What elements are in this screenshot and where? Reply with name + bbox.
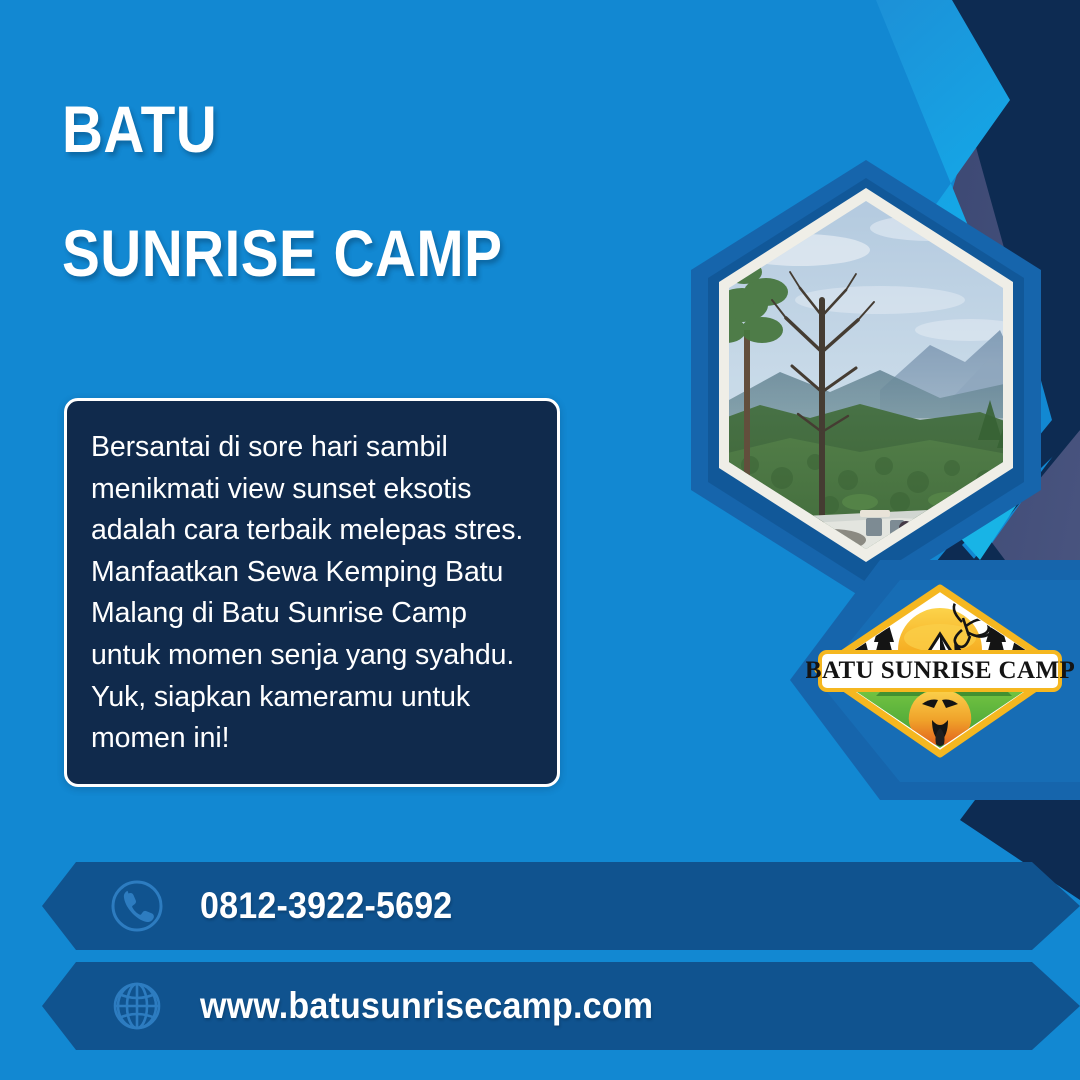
headline-group: BATU SUNRISE CAMP bbox=[62, 96, 682, 286]
contact-bar-website[interactable]: www.batusunrisecamp.com bbox=[42, 962, 1080, 1050]
page-title-line-2: SUNRISE CAMP bbox=[62, 220, 595, 286]
phone-icon bbox=[110, 879, 164, 933]
globe-icon bbox=[110, 979, 164, 1033]
description-box: Bersantai di sore hari sambil menikmati … bbox=[64, 398, 560, 787]
phone-number-text: 0812-3922-5692 bbox=[200, 885, 452, 927]
logo-banner: BATU SUNRISE CAMP bbox=[806, 652, 1074, 690]
logo-batu-sunrise-camp: BATU SUNRISE CAMP bbox=[806, 578, 1074, 768]
contact-bar-phone-content: 0812-3922-5692 bbox=[42, 862, 474, 950]
contact-bar-phone[interactable]: 0812-3922-5692 bbox=[42, 862, 1080, 950]
logo-banner-text: BATU SUNRISE CAMP bbox=[806, 657, 1074, 684]
page-title-line-1: BATU bbox=[62, 96, 595, 162]
description-text: Bersantai di sore hari sambil menikmati … bbox=[91, 427, 533, 760]
website-url-text: www.batusunrisecamp.com bbox=[200, 985, 653, 1027]
poster-canvas: BATU SUNRISE CAMP Bersantai di sore hari… bbox=[0, 0, 1080, 1080]
contact-bar-website-content: www.batusunrisecamp.com bbox=[42, 962, 693, 1050]
